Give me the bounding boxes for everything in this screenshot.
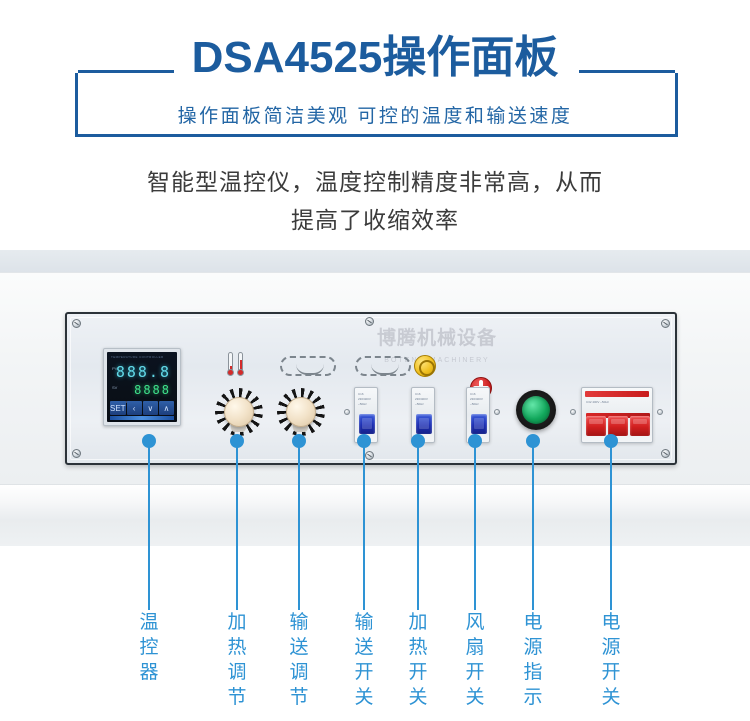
page-title: DSA4525操作面板 xyxy=(0,30,750,86)
callout-label-char: 开 xyxy=(406,660,430,685)
knob-cap xyxy=(224,397,254,427)
controller-sv-value: 8888 xyxy=(134,383,171,397)
chain-glyph xyxy=(280,356,336,376)
callout-label-char: 关 xyxy=(599,685,623,710)
callout-label-char: 送 xyxy=(352,635,376,660)
heating-switch-breaker[interactable]: C16 230/400V ~50Hz xyxy=(411,387,435,443)
controller-bottom-strip xyxy=(110,416,174,420)
panel-screw-bottom-right xyxy=(661,449,670,458)
callout-label-char: 加 xyxy=(406,610,430,635)
breaker-lever-pole-1[interactable] xyxy=(586,416,606,436)
callout-label-char: 电 xyxy=(521,610,545,635)
panel-screw-top-right xyxy=(661,319,670,328)
main-breaker-print: C32 400V ~50Hz xyxy=(586,400,648,412)
callout-label-conveyor-switch: 输送开关 xyxy=(352,610,376,710)
breaker-toggle[interactable] xyxy=(471,414,487,434)
main-breaker-screw-left xyxy=(570,409,576,415)
callout-label-char: 风 xyxy=(463,610,487,635)
callout-label-char: 开 xyxy=(463,660,487,685)
callout-label-char: 开 xyxy=(599,660,623,685)
main-power-breaker[interactable]: C32 400V ~50Hz xyxy=(581,387,653,443)
callout-label-heating-adjust: 加热调节 xyxy=(225,610,249,710)
breaker-print: C16 230/400V ~50Hz xyxy=(358,392,374,410)
control-panel: 博腾机械设备 BOTENG MACHINERY TEMPERATURE CONT… xyxy=(65,312,677,465)
controller-buttons: SET ‹ ∨ ∧ xyxy=(110,401,174,415)
page-root: DSA4525操作面板 操作面板简洁美观 可控的温度和输送速度 智能型温控仪，温… xyxy=(0,0,750,721)
knob-cap xyxy=(286,397,316,427)
thermometer-glyph-large xyxy=(237,352,244,376)
heating-coin-icon xyxy=(414,355,436,377)
temperature-controller[interactable]: TEMPERATURE CONTROLLER PV 888.8 SV 8888 … xyxy=(103,348,181,426)
breaker-toggle[interactable] xyxy=(359,414,375,434)
machine-lip xyxy=(0,484,750,520)
callout-label-power-indicator: 电源指示 xyxy=(521,610,545,710)
callout-label-heating-switch: 加热开关 xyxy=(406,610,430,710)
controller-top-text: TEMPERATURE CONTROLLER xyxy=(111,355,173,360)
callout-label-char: 关 xyxy=(352,685,376,710)
breaker-lever-pole-2[interactable] xyxy=(608,416,628,436)
callout-label-char: 指 xyxy=(521,660,545,685)
chain-conveyor-icon-breaker xyxy=(355,356,411,376)
thermometer-icon xyxy=(227,352,244,376)
panel-screw-bottom-left xyxy=(72,449,81,458)
callout-label-power-switch: 电源开关 xyxy=(599,610,623,710)
callout-label-char: 温 xyxy=(137,610,161,635)
fan-switch-breaker[interactable]: C16 230/400V ~50Hz xyxy=(466,387,490,443)
controller-sv-label: SV xyxy=(112,385,117,390)
controller-pv-value: 888.8 xyxy=(116,363,171,381)
power-indicator-lamp[interactable] xyxy=(516,390,556,430)
callout-label-char: 开 xyxy=(352,660,376,685)
callout-label-char: 源 xyxy=(521,635,545,660)
main-breaker-screw-right xyxy=(657,409,663,415)
heating-adjust-knob[interactable] xyxy=(215,388,263,436)
breaker-mount-screw xyxy=(494,409,500,415)
callout-label-char: 节 xyxy=(287,685,311,710)
breaker-top-band xyxy=(585,391,649,397)
description-line-2: 提高了收缩效率 xyxy=(60,201,690,239)
indicator-lens xyxy=(522,396,550,424)
callout-label-char: 调 xyxy=(225,660,249,685)
breaker-lever-pole-3[interactable] xyxy=(630,416,650,436)
controller-screen: TEMPERATURE CONTROLLER PV 888.8 SV 8888 … xyxy=(107,352,177,422)
callout-label-char: 热 xyxy=(225,635,249,660)
description-line-1: 智能型温控仪，温度控制精度非常高，从而 xyxy=(60,163,690,201)
callout-label-char: 扇 xyxy=(463,635,487,660)
controller-set-button[interactable]: SET xyxy=(110,401,126,415)
panel-screw-top-left xyxy=(72,319,81,328)
controller-left-button[interactable]: ‹ xyxy=(127,401,142,415)
breaker-toggle[interactable] xyxy=(416,414,432,434)
callout-label-char: 器 xyxy=(137,660,161,685)
machine-background xyxy=(0,250,750,272)
callout-label-char: 加 xyxy=(225,610,249,635)
callout-label-char: 调 xyxy=(287,660,311,685)
callout-label-fan-switch: 风扇开关 xyxy=(463,610,487,710)
breaker-print: C16 230/400V ~50Hz xyxy=(415,392,431,410)
breaker-print: C16 230/400V ~50Hz xyxy=(470,392,486,410)
page-subtitle: 操作面板简洁美观 可控的温度和输送速度 xyxy=(0,102,750,132)
callout-label-char: 关 xyxy=(463,685,487,710)
conveyor-adjust-knob[interactable] xyxy=(277,388,325,436)
chain-glyph xyxy=(355,356,411,376)
chain-conveyor-icon-knob xyxy=(280,356,336,376)
callout-label-temperature-controller: 温控器 xyxy=(137,610,161,685)
page-description: 智能型温控仪，温度控制精度非常高，从而 提高了收缩效率 xyxy=(60,163,690,239)
panel-screw-bottom-mid xyxy=(365,451,374,460)
callout-label-conveyor-adjust: 输送调节 xyxy=(287,610,311,710)
callout-label-char: 送 xyxy=(287,635,311,660)
callout-label-char: 源 xyxy=(599,635,623,660)
callout-label-char: 输 xyxy=(287,610,311,635)
callout-label-char: 示 xyxy=(521,685,545,710)
header-section: DSA4525操作面板 操作面板简洁美观 可控的温度和输送速度 智能型温控仪，温… xyxy=(0,0,750,250)
callout-label-char: 节 xyxy=(225,685,249,710)
machine-base xyxy=(0,520,750,546)
controller-down-button[interactable]: ∨ xyxy=(143,401,158,415)
breaker-mount-screw xyxy=(344,409,350,415)
panel-screw-top-mid xyxy=(365,317,374,326)
callout-label-char: 控 xyxy=(137,635,161,660)
machine-photo: 博腾机械设备 BOTENG MACHINERY TEMPERATURE CONT… xyxy=(0,250,750,560)
callout-label-char: 关 xyxy=(406,685,430,710)
callout-label-char: 输 xyxy=(352,610,376,635)
conveyor-switch-breaker[interactable]: C16 230/400V ~50Hz xyxy=(354,387,378,443)
thermometer-glyph-small xyxy=(227,352,234,376)
callout-label-char: 热 xyxy=(406,635,430,660)
controller-up-button[interactable]: ∧ xyxy=(159,401,174,415)
callout-label-char: 电 xyxy=(599,610,623,635)
breaker-levers[interactable] xyxy=(586,416,650,436)
